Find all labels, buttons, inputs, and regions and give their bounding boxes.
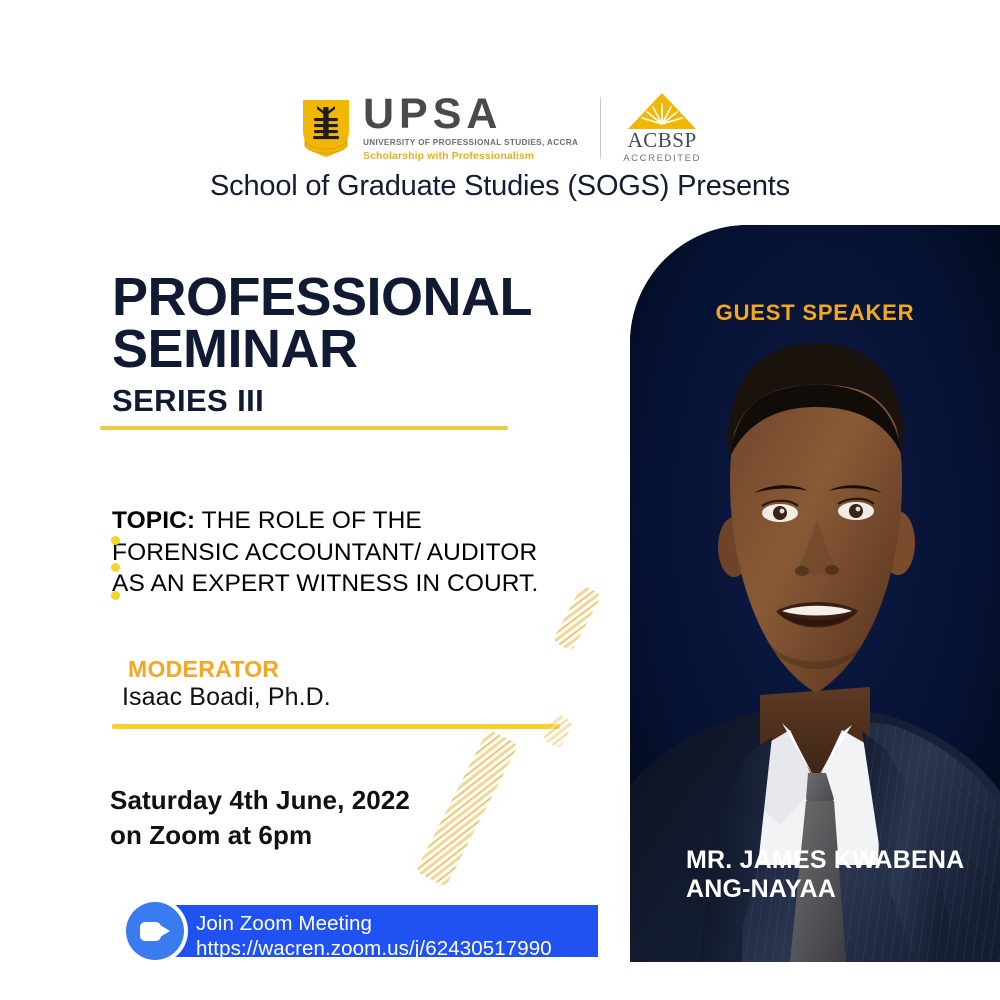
poster-canvas: UPSA UNIVERSITY OF PROFESSIONAL STUDIES,… — [0, 0, 1000, 1000]
upsa-wordmark: UPSA — [363, 94, 578, 135]
guest-speaker-panel: GUEST SPEAKER — [630, 225, 1000, 962]
logo-divider — [600, 97, 601, 159]
join-zoom-label: Join Zoom Meeting — [196, 911, 552, 936]
event-datetime: Saturday 4th June, 2022 on Zoom at 6pm — [110, 783, 410, 853]
moderator-label: MODERATOR — [128, 656, 279, 683]
guest-speaker-label: GUEST SPEAKER — [630, 300, 1000, 326]
moderator-name: Isaac Boadi, Ph.D. — [122, 683, 331, 712]
gold-dot-icon — [111, 591, 120, 600]
presents-line: School of Graduate Studies (SOGS) Presen… — [0, 170, 1000, 203]
title-divider — [100, 426, 508, 430]
upsa-full-name: UNIVERSITY OF PROFESSIONAL STUDIES, ACCR… — [363, 138, 578, 147]
title-line-2: SEMINAR — [112, 324, 532, 376]
series-label: SERIES III — [112, 383, 264, 419]
speaker-name-line-1: MR. JAMES KWABENA — [686, 846, 964, 875]
zoom-camera-body — [140, 922, 161, 941]
page-title: PROFESSIONAL SEMINAR — [112, 272, 532, 376]
event-date: Saturday 4th June, 2022 — [110, 783, 410, 818]
upsa-wordmark-block: UPSA UNIVERSITY OF PROFESSIONAL STUDIES,… — [363, 94, 578, 162]
upsa-crest-icon — [299, 97, 353, 159]
upsa-logo: UPSA UNIVERSITY OF PROFESSIONAL STUDIES,… — [299, 94, 578, 162]
acbsp-accredited-label: ACCREDITED — [623, 153, 701, 164]
event-time: on Zoom at 6pm — [110, 818, 410, 853]
zoom-icon-disc — [126, 902, 184, 960]
topic-label: TOPIC: — [112, 507, 195, 534]
join-zoom-url[interactable]: https://wacren.zoom.us/j/62430517990 — [196, 936, 552, 961]
join-zoom-text: Join Zoom Meeting https://wacren.zoom.us… — [196, 911, 552, 961]
logo-row: UPSA UNIVERSITY OF PROFESSIONAL STUDIES,… — [0, 92, 1000, 164]
gold-dot-icon — [111, 563, 120, 572]
gold-dot-icon — [111, 536, 120, 545]
gold-stripe-decoration — [552, 585, 601, 652]
moderator-divider — [112, 724, 560, 729]
upsa-tagline: Scholarship with Professionalism — [363, 150, 578, 162]
topic-text: TOPIC: THE ROLE OF THE FORENSIC ACCOUNTA… — [112, 505, 552, 600]
gold-stripe-decoration — [416, 729, 519, 887]
gold-stripe-decoration — [542, 713, 573, 749]
zoom-camera-lens — [160, 925, 170, 937]
speaker-name-line-2: ANG-NAYAA — [686, 875, 964, 904]
title-line-1: PROFESSIONAL — [112, 267, 532, 327]
zoom-camera-glyph — [140, 922, 170, 941]
zoom-camera-icon[interactable] — [122, 898, 188, 964]
acbsp-wordmark: ACBSP — [628, 130, 697, 151]
speaker-name: MR. JAMES KWABENA ANG-NAYAA — [686, 846, 964, 904]
acbsp-logo: ACBSP ACCREDITED — [623, 93, 701, 164]
acbsp-sunburst-icon — [626, 93, 698, 129]
